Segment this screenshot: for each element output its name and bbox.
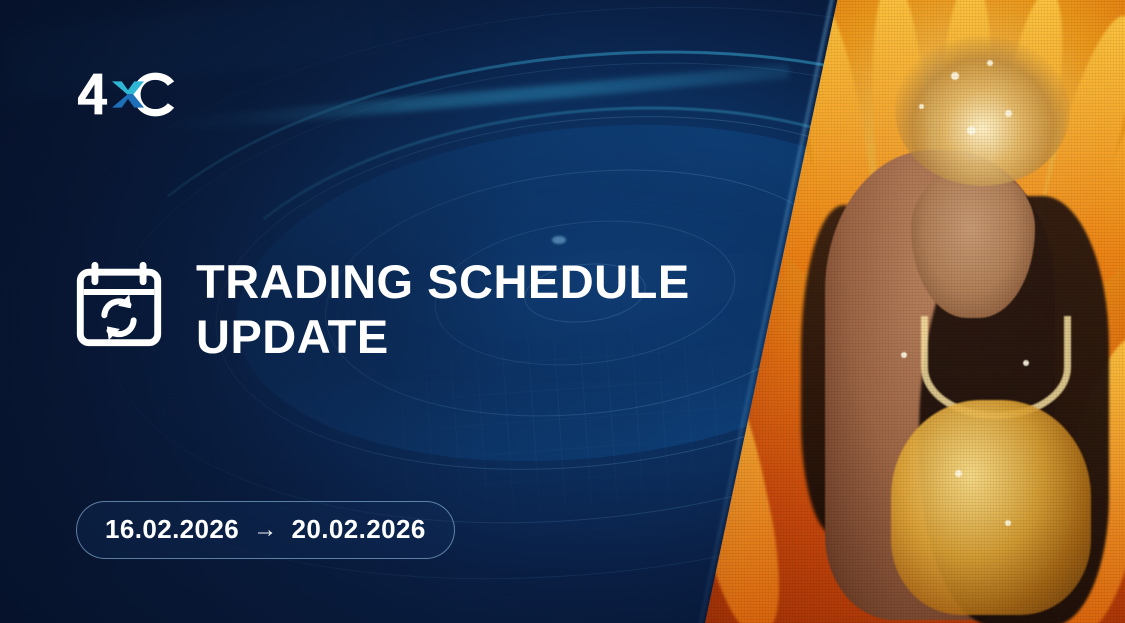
date-range-badge: 16.02.2026 → 20.02.2026: [76, 501, 455, 559]
arrow-right-icon: →: [253, 516, 277, 544]
headline-block: TRADING SCHEDULE UPDATE: [76, 255, 756, 365]
page-title: TRADING SCHEDULE UPDATE: [196, 255, 756, 365]
calendar-refresh-icon: [76, 261, 162, 347]
date-range-start: 16.02.2026: [105, 514, 239, 545]
trading-schedule-banner: TRADING SCHEDULE UPDATE 16.02.2026 → 20.…: [0, 0, 1125, 623]
date-range-end: 20.02.2026: [292, 514, 426, 545]
brand-logo[interactable]: [77, 70, 179, 118]
